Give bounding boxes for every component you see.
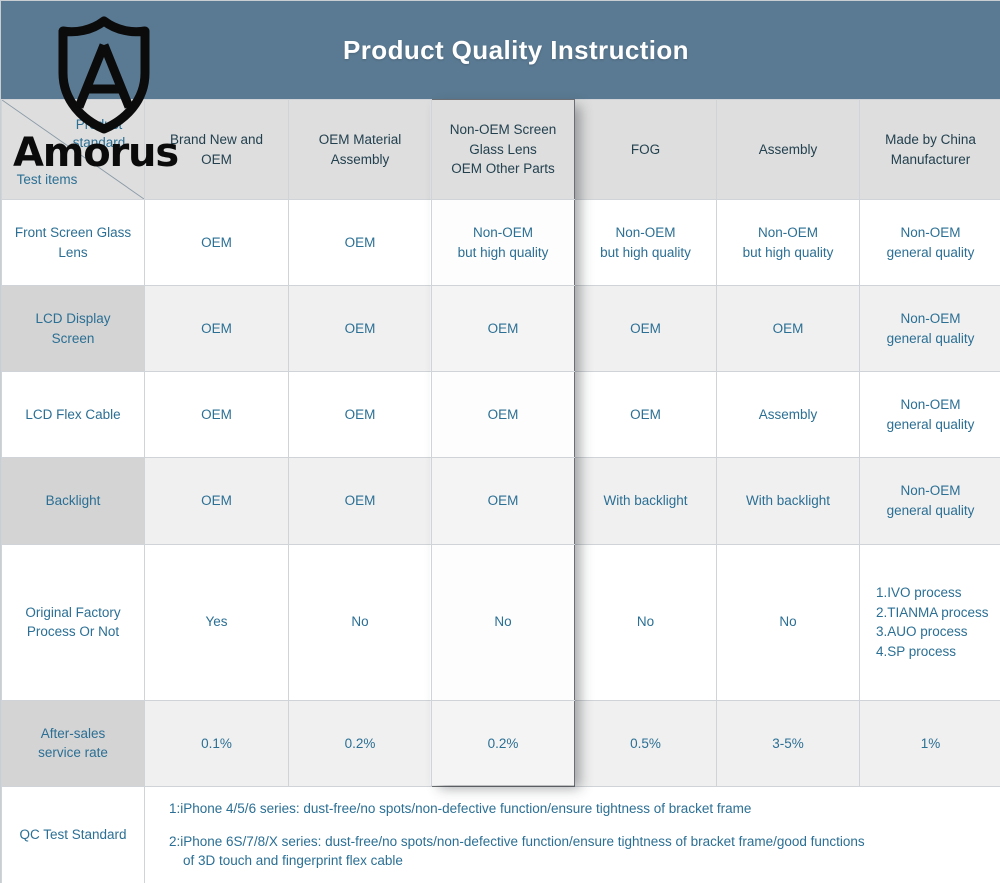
cell: 0.5% <box>575 700 717 786</box>
cell-line1: Yes <box>151 612 282 632</box>
table-header-row: Product standard Test items Brand New an… <box>2 100 1000 200</box>
cell-line1: OEM <box>581 405 710 425</box>
cell: Non-OEMgeneral quality <box>860 286 1000 372</box>
row-label-line2: service rate <box>8 743 138 763</box>
cell: Non-OEMgeneral quality <box>860 372 1000 458</box>
qc-line-1: 1:iPhone 4/5/6 series: dust-free/no spot… <box>169 799 991 819</box>
col-header-line3: OEM Other Parts <box>438 159 568 179</box>
table-row: Original Factory Process Or Not Yes No N… <box>2 544 1000 700</box>
cell: OEM <box>289 458 432 544</box>
col-header-line2: Assembly <box>295 150 425 170</box>
qc-line-2: 2:iPhone 6S/7/8/X series: dust-free/no s… <box>169 832 991 871</box>
cell-line1: With backlight <box>581 491 710 511</box>
row-label-backlight: Backlight <box>2 458 145 544</box>
cell: OEM <box>432 458 575 544</box>
row-label-original-factory-process: Original Factory Process Or Not <box>2 544 145 700</box>
list-item: 3.AUO process <box>876 622 995 642</box>
cell-line1: Non-OEM <box>438 223 568 243</box>
cell: No <box>717 544 860 700</box>
cell: 0.2% <box>432 700 575 786</box>
table-row: Front Screen Glass Lens OEM OEM Non-OEMb… <box>2 200 1000 286</box>
cell-line1: 0.2% <box>438 734 568 754</box>
corner-ps-line1: Product <box>60 116 138 134</box>
cell: 3-5% <box>717 700 860 786</box>
cell-line2: general quality <box>866 415 995 435</box>
table-row: After-sales service rate 0.1% 0.2% 0.2% … <box>2 700 1000 786</box>
cell: With backlight <box>575 458 717 544</box>
cell: 0.1% <box>145 700 289 786</box>
qc-line-2-main: 2:iPhone 6S/7/8/X series: dust-free/no s… <box>169 834 865 849</box>
col-header-line1: OEM Material <box>295 130 425 150</box>
cell: OEM <box>432 372 575 458</box>
cell: Non-OEMbut high quality <box>717 200 860 286</box>
col-header-line2: Glass Lens <box>438 140 568 160</box>
corner-header-cell: Product standard Test items <box>2 100 145 200</box>
cell-line1: Non-OEM <box>723 223 853 243</box>
col-header-line2: OEM <box>151 150 282 170</box>
row-label-qc-test-standard: QC Test Standard <box>2 787 145 883</box>
table-row: LCD Display Screen OEM OEM OEM OEM OEM N… <box>2 286 1000 372</box>
row-label-line1: LCD Display <box>8 309 138 329</box>
cell-line1: OEM <box>438 491 568 511</box>
product-quality-instruction-page: Product Quality Instruction Amorus Produ… <box>0 0 1000 883</box>
cell: Non-OEMgeneral quality <box>860 200 1000 286</box>
col-header-line1: Made by China <box>866 130 995 150</box>
cell-line1: Non-OEM <box>866 309 995 329</box>
cell-line1: Non-OEM <box>866 395 995 415</box>
cell: Non-OEMgeneral quality <box>860 458 1000 544</box>
col-header-line1: FOG <box>581 140 710 160</box>
row-label-line2: Screen <box>8 329 138 349</box>
cell-line2: but high quality <box>581 243 710 263</box>
col-header-line1: Brand New and <box>151 130 282 150</box>
cell-line2: but high quality <box>723 243 853 263</box>
table-row-qc-test-standard: QC Test Standard 1:iPhone 4/5/6 series: … <box>2 787 1000 883</box>
cell-line1: OEM <box>295 319 425 339</box>
col-header-non-oem-screen: Non-OEM Screen Glass Lens OEM Other Part… <box>432 100 575 200</box>
row-label-after-sales-service-rate: After-sales service rate <box>2 700 145 786</box>
cell-line2: general quality <box>866 329 995 349</box>
cell: 0.2% <box>289 700 432 786</box>
row-label-lcd-display-screen: LCD Display Screen <box>2 286 145 372</box>
cell-line1: No <box>438 612 568 632</box>
cell-line1: OEM <box>295 405 425 425</box>
cell: Non-OEMbut high quality <box>575 200 717 286</box>
cell-line1: OEM <box>151 233 282 253</box>
cell-line1: No <box>581 612 710 632</box>
cell: OEM <box>145 286 289 372</box>
cell-line1: OEM <box>438 405 568 425</box>
cell-line2: general quality <box>866 243 995 263</box>
cell: With backlight <box>717 458 860 544</box>
cell: Yes <box>145 544 289 700</box>
cell: OEM <box>145 200 289 286</box>
cell: OEM <box>432 286 575 372</box>
cell-line1: Non-OEM <box>866 481 995 501</box>
table-row: LCD Flex Cable OEM OEM OEM OEM Assembly … <box>2 372 1000 458</box>
row-label-line1: LCD Flex Cable <box>8 405 138 425</box>
col-header-made-by-china: Made by China Manufacturer <box>860 100 1000 200</box>
cell-line2: general quality <box>866 501 995 521</box>
row-label-line2: Lens <box>8 243 138 263</box>
cell-line1: OEM <box>295 233 425 253</box>
corner-ps-line2: standard <box>60 134 138 152</box>
row-label-line1: Original Factory <box>8 603 138 623</box>
col-header-assembly: Assembly <box>717 100 860 200</box>
qc-test-standard-content: 1:iPhone 4/5/6 series: dust-free/no spot… <box>145 787 1000 883</box>
cell: Non-OEMbut high quality <box>432 200 575 286</box>
cell-line1: 1% <box>866 734 995 754</box>
cell-line2: but high quality <box>438 243 568 263</box>
cell-line1: 0.1% <box>151 734 282 754</box>
cell: No <box>575 544 717 700</box>
row-label-front-screen-glass-lens: Front Screen Glass Lens <box>2 200 145 286</box>
cell-line1: OEM <box>295 491 425 511</box>
cell-line1: No <box>723 612 853 632</box>
row-label-line1: Backlight <box>8 491 138 511</box>
cell: No <box>432 544 575 700</box>
cell: No <box>289 544 432 700</box>
cell: OEM <box>575 372 717 458</box>
col-header-line1: Assembly <box>723 140 853 160</box>
row-label-line1: After-sales <box>8 724 138 744</box>
cell: OEM <box>145 372 289 458</box>
col-header-oem-material-assembly: OEM Material Assembly <box>289 100 432 200</box>
cell: OEM <box>145 458 289 544</box>
cell-line1: 0.5% <box>581 734 710 754</box>
row-label-lcd-flex-cable: LCD Flex Cable <box>2 372 145 458</box>
cell-line1: OEM <box>151 405 282 425</box>
list-item: 4.SP process <box>876 642 995 662</box>
cell-line1: Assembly <box>723 405 853 425</box>
cell-line1: 0.2% <box>295 734 425 754</box>
corner-label-test-items: Test items <box>10 171 84 189</box>
cell: OEM <box>289 286 432 372</box>
cell-line1: OEM <box>581 319 710 339</box>
list-item: 2.TIANMA process <box>876 603 995 623</box>
cell-line1: OEM <box>438 319 568 339</box>
cell-line1: With backlight <box>723 491 853 511</box>
table-row: Backlight OEM OEM OEM With backlight Wit… <box>2 458 1000 544</box>
col-header-line1: Non-OEM Screen <box>438 120 568 140</box>
qc-line-2-continuation: of 3D touch and fingerprint flex cable <box>169 851 991 871</box>
cell: OEM <box>575 286 717 372</box>
cell: OEM <box>717 286 860 372</box>
col-header-fog: FOG <box>575 100 717 200</box>
cell: 1% <box>860 700 1000 786</box>
cell-line1: Non-OEM <box>581 223 710 243</box>
cell-line1: Non-OEM <box>866 223 995 243</box>
page-title: Product Quality Instruction <box>1 1 1000 99</box>
col-header-brand-new-oem: Brand New and OEM <box>145 100 289 200</box>
col-header-line2: Manufacturer <box>866 150 995 170</box>
cell-line1: 3-5% <box>723 734 853 754</box>
cell-process-list: 1.IVO process 2.TIANMA process 3.AUO pro… <box>860 544 1000 700</box>
cell-line1: No <box>295 612 425 632</box>
row-label-line2: Process Or Not <box>8 622 138 642</box>
cell-line1: OEM <box>151 319 282 339</box>
corner-label-product-standard: Product standard <box>60 116 138 152</box>
quality-comparison-table: Product standard Test items Brand New an… <box>1 99 1000 883</box>
row-label-line1: Front Screen Glass <box>8 223 138 243</box>
cell: OEM <box>289 200 432 286</box>
cell-line1: OEM <box>151 491 282 511</box>
list-item: 1.IVO process <box>876 583 995 603</box>
cell: OEM <box>289 372 432 458</box>
cell-line1: OEM <box>723 319 853 339</box>
cell: Assembly <box>717 372 860 458</box>
